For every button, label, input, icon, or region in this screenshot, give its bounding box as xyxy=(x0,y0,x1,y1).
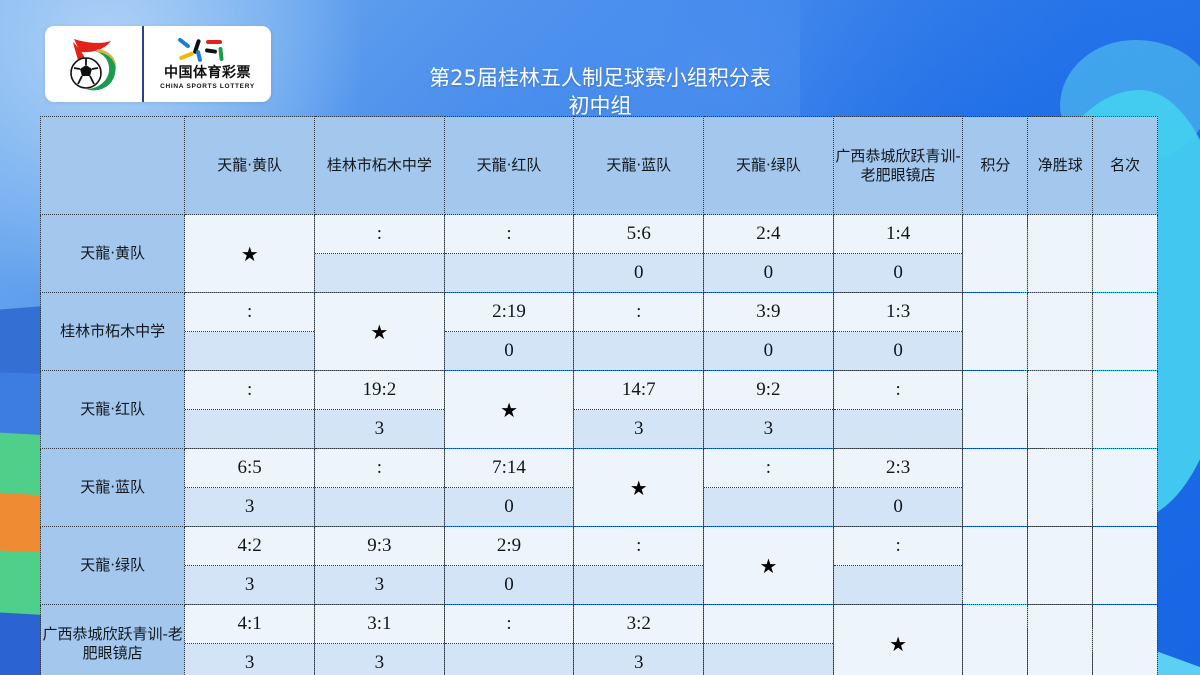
match-score: : xyxy=(834,371,963,410)
column-header-goal-diff: 净胜球 xyxy=(1028,117,1093,215)
self-star-icon: ★ xyxy=(241,244,259,264)
match-score: : xyxy=(185,371,314,410)
match-cell: 3:13 xyxy=(315,605,445,675)
match-points xyxy=(445,254,574,293)
match-score: : xyxy=(185,293,314,332)
football-emblem-icon xyxy=(45,26,142,102)
match-score: : xyxy=(834,527,963,566)
self-star-icon: ★ xyxy=(500,400,518,420)
match-cell: : xyxy=(574,527,704,605)
match-cell-self: ★ xyxy=(315,293,445,371)
match-points xyxy=(185,332,314,371)
goal-difference-cell xyxy=(1028,449,1093,527)
match-cell xyxy=(704,605,834,675)
goal-difference-cell xyxy=(1028,293,1093,371)
match-cell: 5:60 xyxy=(574,215,704,293)
page-title: 第25届桂林五人制足球赛小组积分表 初中组 xyxy=(290,64,910,120)
match-points: 0 xyxy=(445,566,574,605)
table-row: 天龍·绿队4:239:332:90:★: xyxy=(41,527,1158,605)
match-score: : xyxy=(315,449,444,488)
match-points: 0 xyxy=(445,488,574,527)
goal-difference-cell xyxy=(1028,371,1093,449)
match-cell: 7:140 xyxy=(444,449,574,527)
total-points-cell-value xyxy=(963,605,1027,675)
table-head: 天龍·黄队 桂林市柘木中学 天龍·红队 天龍·蓝队 天龍·绿队 广西恭城欣跃青训… xyxy=(41,117,1158,215)
match-cell-self: ★ xyxy=(833,605,963,675)
sports-lottery-logo: 中国体育彩票 CHINA SPORTS LOTTERY xyxy=(144,26,271,102)
match-points: 0 xyxy=(834,332,963,371)
match-cell-self: ★ xyxy=(704,527,834,605)
goal-difference-cell xyxy=(1028,527,1093,605)
row-header-team: 广西恭城欣跃青训-老肥眼镜店 xyxy=(41,605,185,675)
header-row: 天龍·黄队 桂林市柘木中学 天龍·红队 天龍·蓝队 天龍·绿队 广西恭城欣跃青训… xyxy=(41,117,1158,215)
goal-difference-cell-value xyxy=(1028,215,1092,292)
table-row: 天龍·黄队★::5:602:401:40 xyxy=(41,215,1158,293)
column-header-team-3: 天龍·红队 xyxy=(444,117,574,215)
match-points xyxy=(445,644,574,675)
match-score: 1:3 xyxy=(834,293,963,332)
match-points: 3 xyxy=(315,410,444,449)
match-score: 14:7 xyxy=(574,371,703,410)
match-points xyxy=(574,332,703,371)
rank-cell xyxy=(1093,293,1158,371)
table-row: 桂林市柘木中学:★2:190:3:901:30 xyxy=(41,293,1158,371)
sponsor-logo-bar: 中国体育彩票 CHINA SPORTS LOTTERY xyxy=(45,26,271,102)
match-score: : xyxy=(704,449,833,488)
match-score xyxy=(704,605,833,644)
match-score: 3:2 xyxy=(574,605,703,644)
match-points: 3 xyxy=(574,410,703,449)
total-points-cell xyxy=(963,293,1028,371)
match-cell: 2:90 xyxy=(444,527,574,605)
lottery-name-cn: 中国体育彩票 xyxy=(164,66,251,80)
match-points: 0 xyxy=(834,488,963,527)
match-points: 3 xyxy=(574,644,703,675)
match-cell: 4:13 xyxy=(185,605,315,675)
row-header-team: 天龍·绿队 xyxy=(41,527,185,605)
rank-cell-value xyxy=(1093,293,1157,370)
match-points xyxy=(574,566,703,605)
title-line-1: 第25届桂林五人制足球赛小组积分表 xyxy=(290,64,910,92)
total-points-cell-value xyxy=(963,527,1027,604)
table-body: 天龍·黄队★::5:602:401:40桂林市柘木中学:★2:190:3:901… xyxy=(41,215,1158,675)
match-score: 4:2 xyxy=(185,527,314,566)
table-row: 天龍·红队:19:23★14:739:23: xyxy=(41,371,1158,449)
match-score: 2:9 xyxy=(445,527,574,566)
goal-difference-cell-value xyxy=(1028,527,1092,604)
slide-canvas: 中国体育彩票 CHINA SPORTS LOTTERY 第25届桂林五人制足球赛… xyxy=(0,0,1200,675)
match-score: : xyxy=(445,215,574,254)
match-points: 3 xyxy=(315,644,444,675)
goal-difference-cell xyxy=(1028,605,1093,675)
rank-cell xyxy=(1093,215,1158,293)
match-points: 3 xyxy=(185,644,314,675)
match-cell: : xyxy=(315,215,445,293)
total-points-cell-value xyxy=(963,449,1027,526)
match-score: 9:2 xyxy=(704,371,833,410)
match-score: 6:5 xyxy=(185,449,314,488)
match-cell: : xyxy=(444,215,574,293)
match-points xyxy=(185,410,314,449)
match-points: 3 xyxy=(315,566,444,605)
match-score: 2:19 xyxy=(445,293,574,332)
goal-difference-cell-value xyxy=(1028,293,1092,370)
goal-difference-cell-value xyxy=(1028,449,1092,526)
match-cell: 14:73 xyxy=(574,371,704,449)
match-cell: 9:33 xyxy=(315,527,445,605)
column-header-team-5: 天龍·绿队 xyxy=(704,117,834,215)
total-points-cell-value xyxy=(963,371,1027,448)
match-points: 0 xyxy=(704,332,833,371)
match-score: : xyxy=(445,605,574,644)
standings-table-container: 天龍·黄队 桂林市柘木中学 天龍·红队 天龍·蓝队 天龍·绿队 广西恭城欣跃青训… xyxy=(40,116,1158,673)
row-header-team: 天龍·黄队 xyxy=(41,215,185,293)
total-points-cell-value xyxy=(963,215,1027,292)
column-header-team-2: 桂林市柘木中学 xyxy=(315,117,445,215)
match-score: 19:2 xyxy=(315,371,444,410)
match-points: 0 xyxy=(445,332,574,371)
total-points-cell xyxy=(963,215,1028,293)
match-score: 5:6 xyxy=(574,215,703,254)
match-points xyxy=(704,488,833,527)
rank-cell-value xyxy=(1093,449,1157,526)
rank-cell xyxy=(1093,605,1158,675)
match-cell: 2:30 xyxy=(833,449,963,527)
match-score: 2:3 xyxy=(834,449,963,488)
rank-cell xyxy=(1093,527,1158,605)
match-cell: 9:23 xyxy=(704,371,834,449)
self-star-icon: ★ xyxy=(889,634,907,654)
match-score: 4:1 xyxy=(185,605,314,644)
match-points: 0 xyxy=(574,254,703,293)
match-points: 0 xyxy=(834,254,963,293)
total-points-cell-value xyxy=(963,293,1027,370)
lottery-mark-icon xyxy=(175,38,241,64)
match-score: : xyxy=(574,293,703,332)
total-points-cell xyxy=(963,449,1028,527)
column-header-team-1: 天龍·黄队 xyxy=(185,117,315,215)
match-score: : xyxy=(315,215,444,254)
match-points xyxy=(834,410,963,449)
row-header-team: 天龍·红队 xyxy=(41,371,185,449)
match-cell: 1:40 xyxy=(833,215,963,293)
match-score: 2:4 xyxy=(704,215,833,254)
match-points xyxy=(704,644,833,675)
rank-cell-value xyxy=(1093,605,1157,675)
match-score: 3:9 xyxy=(704,293,833,332)
rank-cell-value xyxy=(1093,371,1157,448)
match-score: 9:3 xyxy=(315,527,444,566)
match-cell: : xyxy=(185,293,315,371)
column-header-rank: 名次 xyxy=(1093,117,1158,215)
goal-difference-cell-value xyxy=(1028,605,1092,675)
match-points: 3 xyxy=(185,566,314,605)
match-cell: : xyxy=(185,371,315,449)
match-score: : xyxy=(574,527,703,566)
match-cell: 2:190 xyxy=(444,293,574,371)
match-points: 3 xyxy=(185,488,314,527)
match-cell: 2:40 xyxy=(704,215,834,293)
rank-cell-value xyxy=(1093,527,1157,604)
match-cell: : xyxy=(574,293,704,371)
row-header-team: 桂林市柘木中学 xyxy=(41,293,185,371)
match-cell: 3:90 xyxy=(704,293,834,371)
table-row: 天龍·蓝队6:53:7:140★:2:30 xyxy=(41,449,1158,527)
match-score: 7:14 xyxy=(445,449,574,488)
match-cell: 1:30 xyxy=(833,293,963,371)
rank-cell xyxy=(1093,371,1158,449)
lottery-name-en: CHINA SPORTS LOTTERY xyxy=(160,83,255,90)
match-score: 3:1 xyxy=(315,605,444,644)
goal-difference-cell xyxy=(1028,215,1093,293)
match-points: 3 xyxy=(704,410,833,449)
match-cell: : xyxy=(704,449,834,527)
table-row: 广西恭城欣跃青训-老肥眼镜店4:133:13:3:23★ xyxy=(41,605,1158,675)
match-cell: : xyxy=(833,371,963,449)
match-cell: 19:23 xyxy=(315,371,445,449)
self-star-icon: ★ xyxy=(759,556,777,576)
column-header-team-6: 广西恭城欣跃青训-老肥眼镜店 xyxy=(833,117,963,215)
match-cell: : xyxy=(833,527,963,605)
total-points-cell xyxy=(963,605,1028,675)
total-points-cell xyxy=(963,371,1028,449)
row-header-team: 天龍·蓝队 xyxy=(41,449,185,527)
self-star-icon: ★ xyxy=(630,478,648,498)
match-cell-self: ★ xyxy=(444,371,574,449)
match-cell: 4:23 xyxy=(185,527,315,605)
match-cell: : xyxy=(315,449,445,527)
match-score: 1:4 xyxy=(834,215,963,254)
column-header-team-4: 天龍·蓝队 xyxy=(574,117,704,215)
match-cell: : xyxy=(444,605,574,675)
rank-cell-value xyxy=(1093,215,1157,292)
match-cell-self: ★ xyxy=(574,449,704,527)
match-points: 0 xyxy=(704,254,833,293)
total-points-cell xyxy=(963,527,1028,605)
match-cell: 3:23 xyxy=(574,605,704,675)
rank-cell xyxy=(1093,449,1158,527)
standings-table: 天龍·黄队 桂林市柘木中学 天龍·红队 天龍·蓝队 天龍·绿队 广西恭城欣跃青训… xyxy=(40,116,1158,675)
corner-cell xyxy=(41,117,185,215)
match-points xyxy=(834,566,963,605)
match-points xyxy=(315,254,444,293)
match-cell-self: ★ xyxy=(185,215,315,293)
column-header-points: 积分 xyxy=(963,117,1028,215)
match-points xyxy=(315,488,444,527)
match-cell: 6:53 xyxy=(185,449,315,527)
self-star-icon: ★ xyxy=(370,322,388,342)
goal-difference-cell-value xyxy=(1028,371,1092,448)
